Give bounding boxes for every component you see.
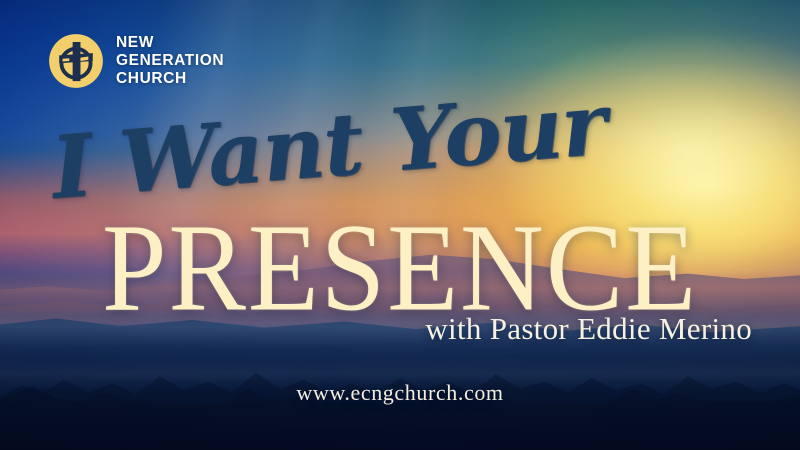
church-wordmark: NEW GENERATION CHURCH bbox=[116, 34, 224, 88]
church-logo[interactable]: NEW GENERATION CHURCH bbox=[48, 33, 224, 89]
sermon-graphic-canvas: NEW GENERATION CHURCH I Want Your PRESEN… bbox=[0, 0, 800, 450]
website-url: www.ecngchurch.com bbox=[0, 381, 800, 405]
church-cross-circle-logo-icon bbox=[48, 33, 104, 89]
speaker-credit: with Pastor Eddie Merino bbox=[425, 312, 752, 346]
